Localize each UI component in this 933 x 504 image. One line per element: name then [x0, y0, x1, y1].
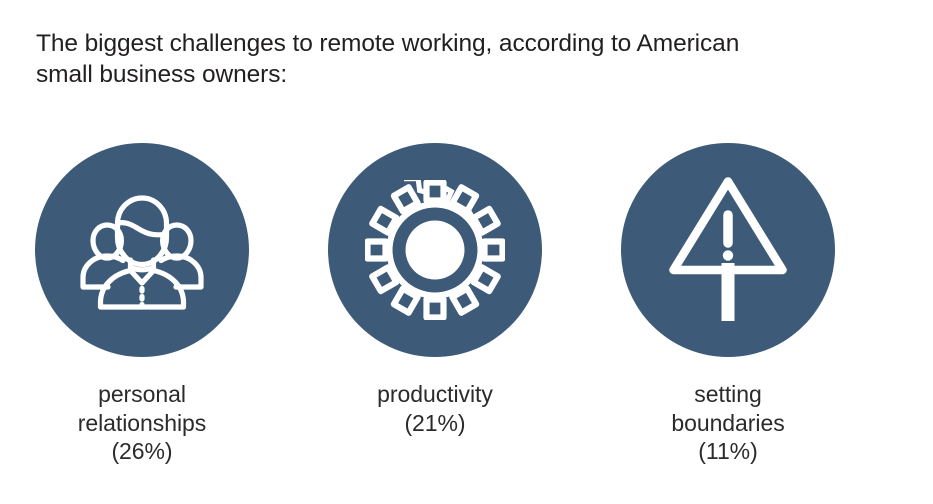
warning-sign-icon — [666, 175, 790, 325]
items-row: personal relationships (26%) — [0, 143, 933, 483]
people-group-icon — [67, 190, 217, 310]
challenge-item-setting-boundaries: setting boundaries (11%) — [583, 143, 873, 466]
page-title: The biggest challenges to remote working… — [36, 28, 866, 90]
challenge-label-personal-relationships: personal relationships (26%) — [78, 380, 206, 466]
infographic-canvas: The biggest challenges to remote working… — [0, 0, 933, 504]
icon-circle-setting-boundaries — [621, 143, 835, 357]
icon-circle-personal-relationships — [35, 143, 249, 357]
challenge-item-personal-relationships: personal relationships (26%) — [0, 143, 287, 466]
challenge-label-productivity: productivity (21%) — [377, 380, 493, 437]
challenge-item-productivity: productivity (21%) — [290, 143, 580, 437]
challenge-label-setting-boundaries: setting boundaries (11%) — [671, 380, 784, 466]
icon-circle-productivity — [328, 143, 542, 357]
gear-icon — [365, 180, 505, 320]
